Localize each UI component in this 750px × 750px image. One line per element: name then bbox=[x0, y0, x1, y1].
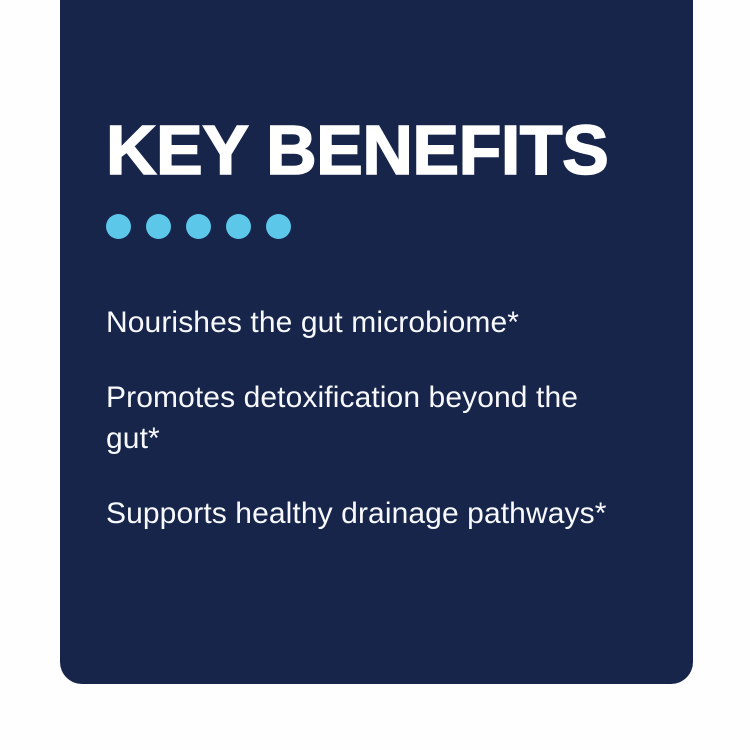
decorative-dot-row bbox=[106, 214, 291, 239]
accent-dot-icon bbox=[186, 214, 211, 239]
accent-dot-icon bbox=[106, 214, 131, 239]
accent-dot-icon bbox=[266, 214, 291, 239]
list-item: Promotes detoxification beyond the gut* bbox=[106, 377, 626, 459]
page-title: KEY BENEFITS bbox=[106, 114, 608, 186]
list-item: Nourishes the gut microbiome* bbox=[106, 302, 626, 343]
accent-dot-icon bbox=[146, 214, 171, 239]
page-root: KEY BENEFITS Nourishes the gut microbiom… bbox=[0, 0, 750, 750]
accent-dot-icon bbox=[226, 214, 251, 239]
benefit-list: Nourishes the gut microbiome* Promotes d… bbox=[106, 302, 667, 534]
list-item: Supports healthy drainage pathways* bbox=[106, 493, 626, 534]
key-benefits-card: KEY BENEFITS Nourishes the gut microbiom… bbox=[60, 0, 693, 684]
